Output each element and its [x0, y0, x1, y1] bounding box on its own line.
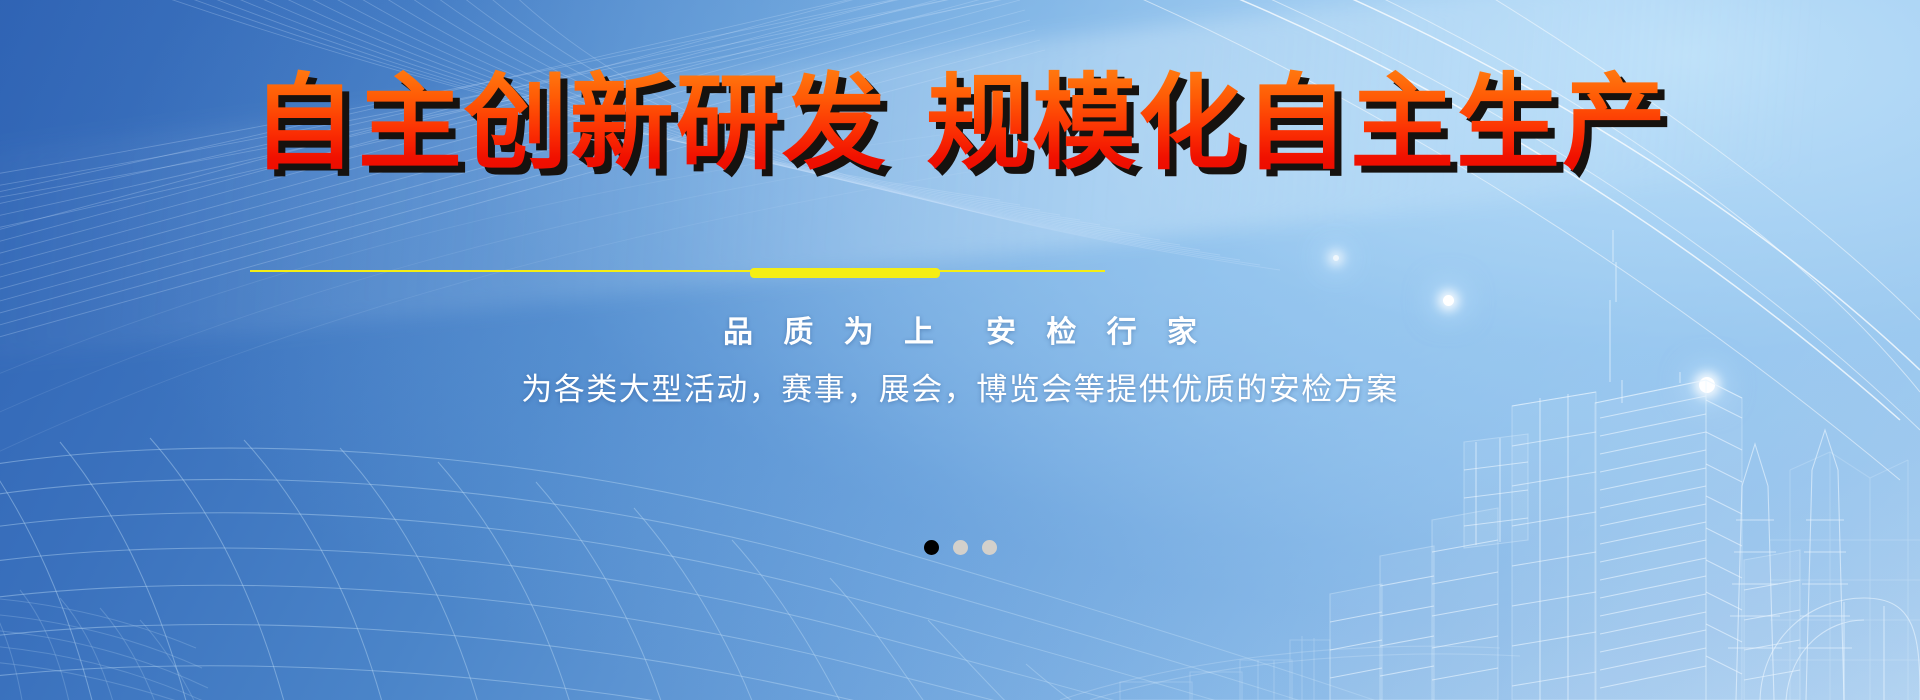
banner-slogan: 品 质 为 上 安 检 行 家 — [0, 307, 1920, 351]
hero-banner: 自主创新研发 规模化自主生产 品 质 为 上 安 检 行 家 为各类大型活动，赛… — [0, 0, 1920, 700]
divider-accent-bar — [750, 268, 940, 278]
carousel-dots[interactable] — [0, 540, 1920, 555]
divider-hairline — [250, 270, 1105, 272]
banner-content: 自主创新研发 规模化自主生产 品 质 为 上 安 检 行 家 为各类大型活动，赛… — [0, 0, 1920, 700]
carousel-dot-3[interactable] — [982, 540, 997, 555]
divider — [250, 268, 1105, 274]
carousel-dot-1[interactable] — [924, 540, 939, 555]
carousel-dot-2[interactable] — [953, 540, 968, 555]
banner-tagline: 为各类大型活动，赛事，展会，博览会等提供优质的安检方案 — [0, 364, 1920, 409]
banner-headline: 自主创新研发 规模化自主生产 — [0, 68, 1920, 178]
